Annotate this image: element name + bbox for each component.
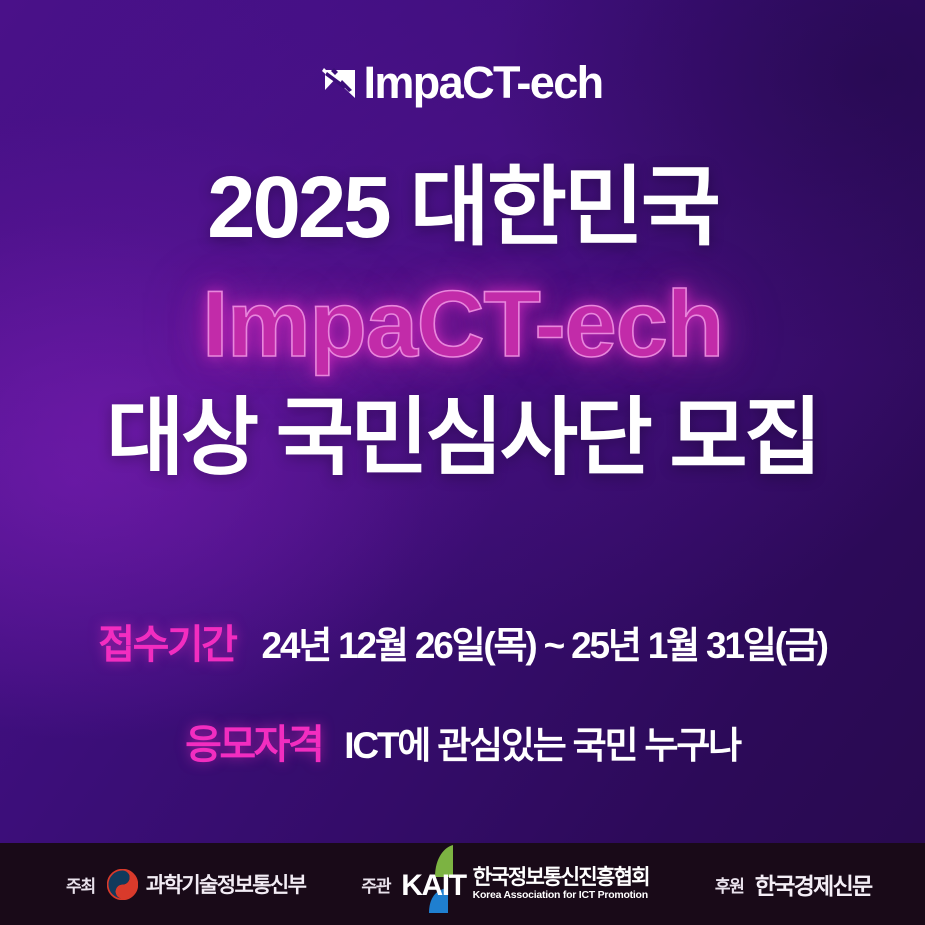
- footer-sponsor-group: 후원 한국경제신문: [715, 867, 872, 901]
- headline-line-3: 대상 국민심사단 모집: [0, 389, 925, 489]
- info-row-eligibility: 응모자격 ICT에 관심있는 국민 누구나: [0, 712, 925, 770]
- footer-band: 주최 과학기술정보통신부 주관 KAIT 한국정보통신진흥협회 Korea As…: [0, 843, 925, 925]
- footer-sponsor-name: 한국경제신문: [755, 867, 872, 901]
- footer-organizer-group: 주관 KAIT 한국정보통신진흥협회 Korea Association for…: [361, 867, 648, 901]
- info-value-eligibility: ICT에 관심있는 국민 누구나: [344, 715, 740, 769]
- footer-sponsor-role: 후원: [715, 872, 744, 897]
- brand-name: ImpaCT-ech: [363, 60, 602, 105]
- kait-logo-lockup: KAIT 한국정보통신진흥협회 Korea Association for IC…: [401, 867, 649, 901]
- footer-host-name: 과학기술정보통신부: [146, 869, 305, 899]
- info-label-application-period: 접수기간: [98, 612, 235, 670]
- headline-line-1: 2025 대한민국: [0, 158, 925, 259]
- kait-name-block: 한국정보통신진흥협회 Korea Association for ICT Pro…: [473, 867, 649, 901]
- info-value-application-period: 24년 12월 26일(목) ~ 25년 1월 31일(금): [261, 615, 826, 669]
- info-label-eligibility: 응모자격: [185, 712, 322, 770]
- taegeuk-emblem-icon: [107, 869, 138, 900]
- info-block: 접수기간 24년 12월 26일(목) ~ 25년 1월 31일(금) 응모자격…: [0, 612, 925, 770]
- kait-name-english: Korea Association for ICT Promotion: [473, 890, 649, 901]
- brand-lockup: ImpaCT-ech: [0, 60, 925, 105]
- kait-name-korean: 한국정보통신진흥협회: [473, 867, 649, 888]
- headline-block: 2025 대한민국 ImpaCT-ech 대상 국민심사단 모집: [0, 158, 925, 489]
- poster-canvas: ImpaCT-ech 2025 대한민국 ImpaCT-ech 대상 국민심사단…: [0, 0, 925, 925]
- footer-organizer-role: 주관: [361, 872, 390, 897]
- headline-line-2: ImpaCT-ech: [0, 259, 925, 389]
- kait-acronym: KAIT: [401, 872, 465, 901]
- impactech-angular-mark-icon: [322, 64, 360, 104]
- footer-host-group: 주최 과학기술정보통신부: [66, 869, 305, 900]
- info-row-application-period: 접수기간 24년 12월 26일(목) ~ 25년 1월 31일(금): [0, 612, 925, 670]
- footer-host-role: 주최: [66, 872, 95, 897]
